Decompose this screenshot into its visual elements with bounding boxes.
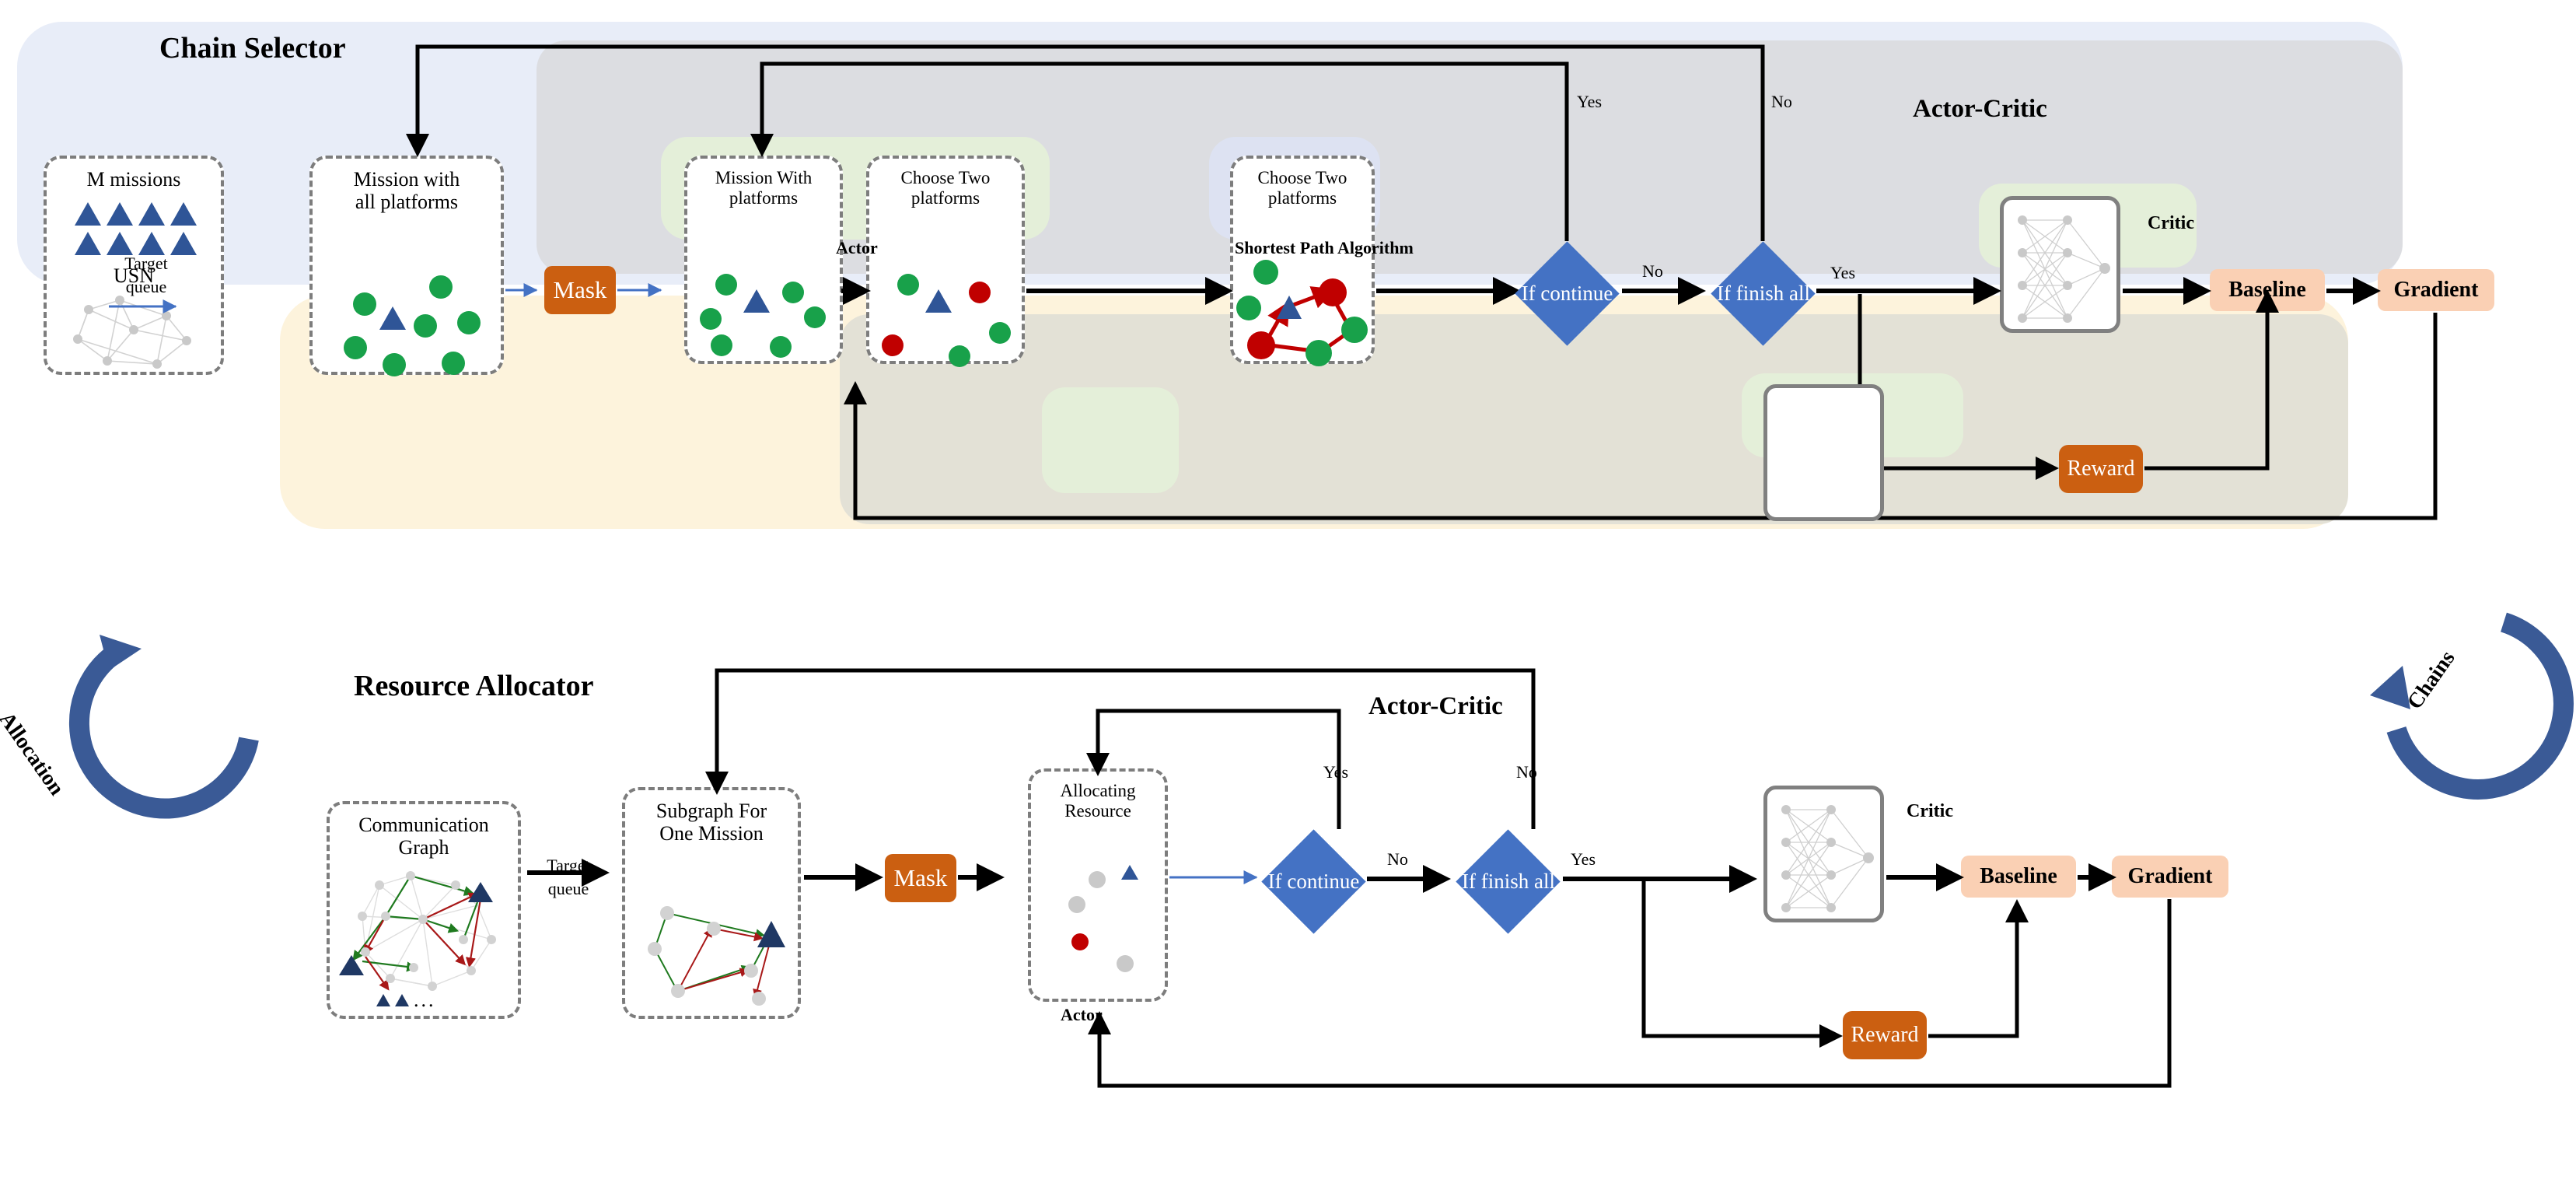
communication-graph-line1: Communication <box>330 814 518 836</box>
critic-label-top: Critic <box>2148 213 2194 234</box>
feedback-lines-bottom <box>684 663 1555 888</box>
yes-label-2-bottom: Yes <box>1571 849 1596 870</box>
target-queue-arrow-top <box>109 299 187 315</box>
target-queue-label-top-line1: Target <box>115 254 177 274</box>
gradient-feedback-top <box>849 366 1868 521</box>
actor-critic-top-title: Actor-Critic <box>1913 95 2047 124</box>
gradient-feedback-bottom <box>1092 1003 1652 1097</box>
more-missions-dots: ... <box>414 994 436 1006</box>
communication-graph-box: Communication Graph <box>327 801 521 1019</box>
reward-and-gradient-lines-top <box>1858 288 2511 537</box>
target-queue-label-bottom-line2: queue <box>537 879 600 899</box>
m-missions-label: M missions <box>47 168 221 191</box>
chain-selector-title: Chain Selector <box>159 31 346 65</box>
resource-allocator-title: Resource Allocator <box>354 669 594 703</box>
feedback-lines-top <box>373 47 1928 296</box>
target-queue-label-top-line2: queue <box>115 277 177 297</box>
target-queue-arrow-bottom <box>527 868 613 879</box>
critic-label-bottom: Critic <box>1907 801 1953 822</box>
communication-graph-icon <box>339 865 515 991</box>
communication-graph-line2: Graph <box>330 836 518 859</box>
critic-network-bottom <box>1763 384 1884 521</box>
reward-and-gradient-lines-bottom <box>1642 874 2280 1108</box>
